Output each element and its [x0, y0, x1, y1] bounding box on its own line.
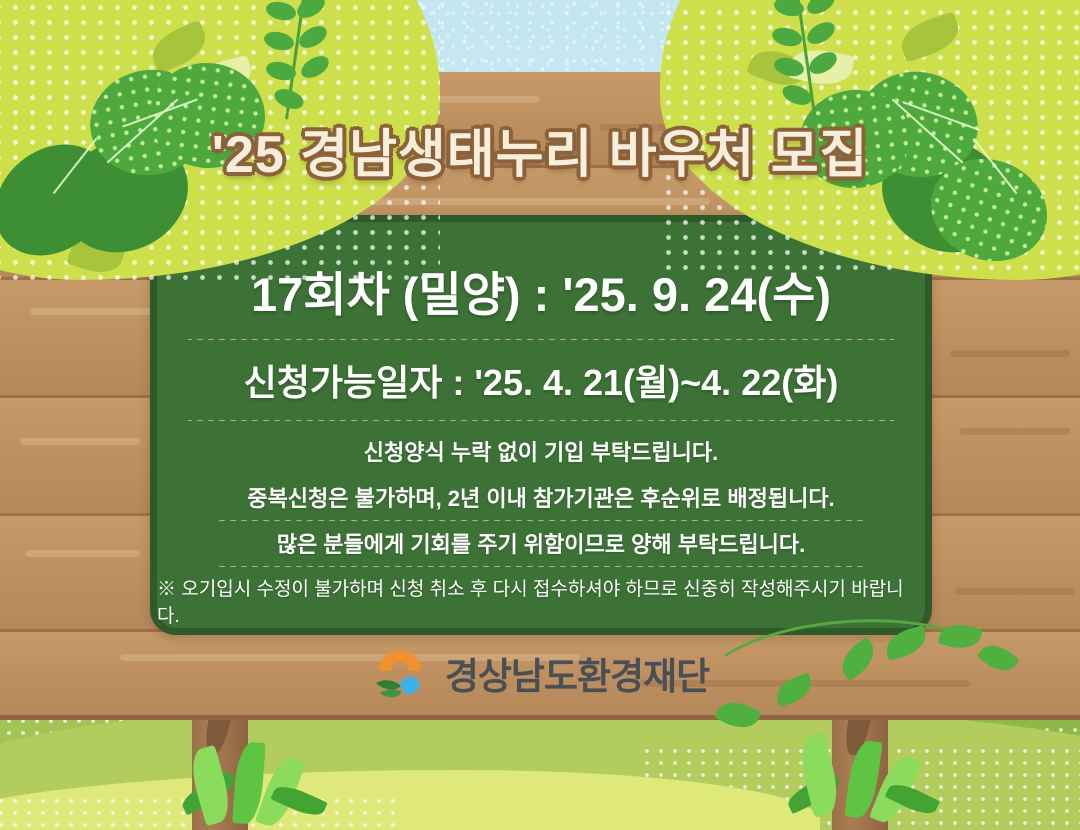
- wood-grain: [960, 428, 1070, 435]
- foundation-name: 경상남도환경재단: [445, 646, 709, 700]
- caution-note: ※ 오기입시 수정이 불가하며 신청 취소 후 다시 접수하셔야 하므로 신중히…: [157, 574, 925, 628]
- sprig-leaf: [804, 0, 839, 17]
- wood-grain: [30, 308, 160, 315]
- body-line: 중복신청은 불가하며, 2년 이내 참가기관은 후순위로 배정됩니다.: [247, 481, 834, 513]
- wood-grain: [20, 438, 140, 445]
- sprig-leaf: [298, 53, 333, 81]
- application-period-subhead: 신청가능일자 : '25. 4. 21(월)~4. 22(화): [244, 354, 839, 406]
- sprig-leaf: [264, 0, 299, 25]
- body-line: 신청양식 누락 없이 기입 부탁드립니다.: [364, 435, 718, 467]
- sun-water-leaf-logo-icon: [371, 645, 429, 701]
- foundation-logo: 경상남도환경재단: [0, 645, 1080, 701]
- wood-grain: [955, 588, 1075, 595]
- sprig-leaf: [262, 27, 297, 55]
- body-line: 많은 분들에게 기회를 주기 위함이므로 양해 부탁드립니다.: [277, 527, 806, 559]
- sprig-leaf: [806, 49, 841, 77]
- wood-grain: [25, 550, 140, 557]
- banana-plant-right: [790, 730, 930, 830]
- sprig-leaf: [772, 53, 807, 81]
- wood-grain: [950, 350, 1070, 357]
- poster-canvas: '25 경남생태누리 바우처 모집 17회차 (밀양) : '25. 9. 24…: [0, 0, 1080, 830]
- fern-sprig-left: [260, 0, 330, 120]
- page-title: '25 경남생태누리 바우처 모집: [0, 112, 1080, 187]
- fern-sprig-right: [770, 0, 840, 116]
- banana-plant-left: [180, 740, 310, 830]
- sprig-leaf: [770, 23, 805, 51]
- sprig-leaf: [804, 19, 839, 47]
